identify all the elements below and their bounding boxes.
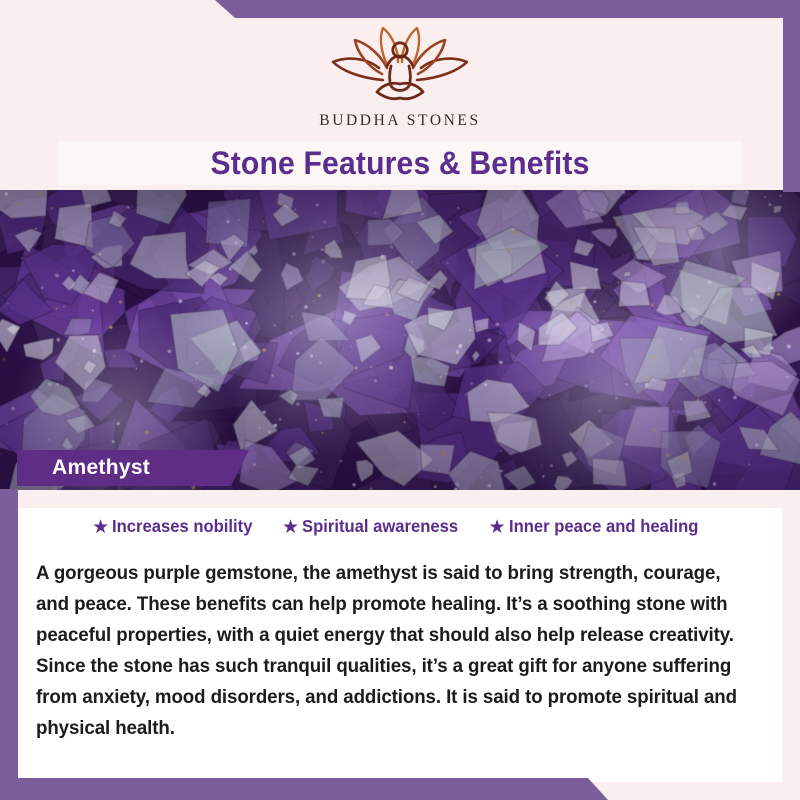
star-icon: ★ [488, 518, 505, 537]
feature-label: Increases nobility [112, 516, 252, 537]
feature-label: Inner peace and healing [509, 516, 698, 537]
page-title: Stone Features & Benefits [24, 141, 776, 185]
star-icon: ★ [282, 518, 299, 537]
amethyst-hero-image [0, 190, 800, 490]
frame-right-accent [783, 0, 800, 192]
brand-name: BUDDHA STONES [0, 112, 800, 130]
infographic-page: BUDDHA STONES Stone Features & Benefits … [0, 0, 800, 800]
feature-item: ★ Inner peace and healing [488, 516, 707, 537]
amethyst-crystal-cluster-photo [0, 190, 800, 490]
stone-description: A gorgeous purple gemstone, the amethyst… [36, 558, 754, 744]
frame-left-accent [0, 489, 18, 779]
feature-item: ★ Increases nobility [92, 516, 260, 537]
brand-logo: BUDDHA STONES [0, 22, 800, 130]
feature-list: ★ Increases nobility ★ Spiritual awarene… [0, 516, 800, 537]
star-icon: ★ [92, 518, 109, 537]
header-section: BUDDHA STONES Stone Features & Benefits [0, 0, 800, 190]
lotus-meditation-figure-icon [325, 22, 475, 110]
stone-name-label: Amethyst [52, 450, 150, 486]
feature-item: ★ Spiritual awareness [282, 516, 466, 537]
feature-label: Spiritual awareness [302, 516, 458, 537]
